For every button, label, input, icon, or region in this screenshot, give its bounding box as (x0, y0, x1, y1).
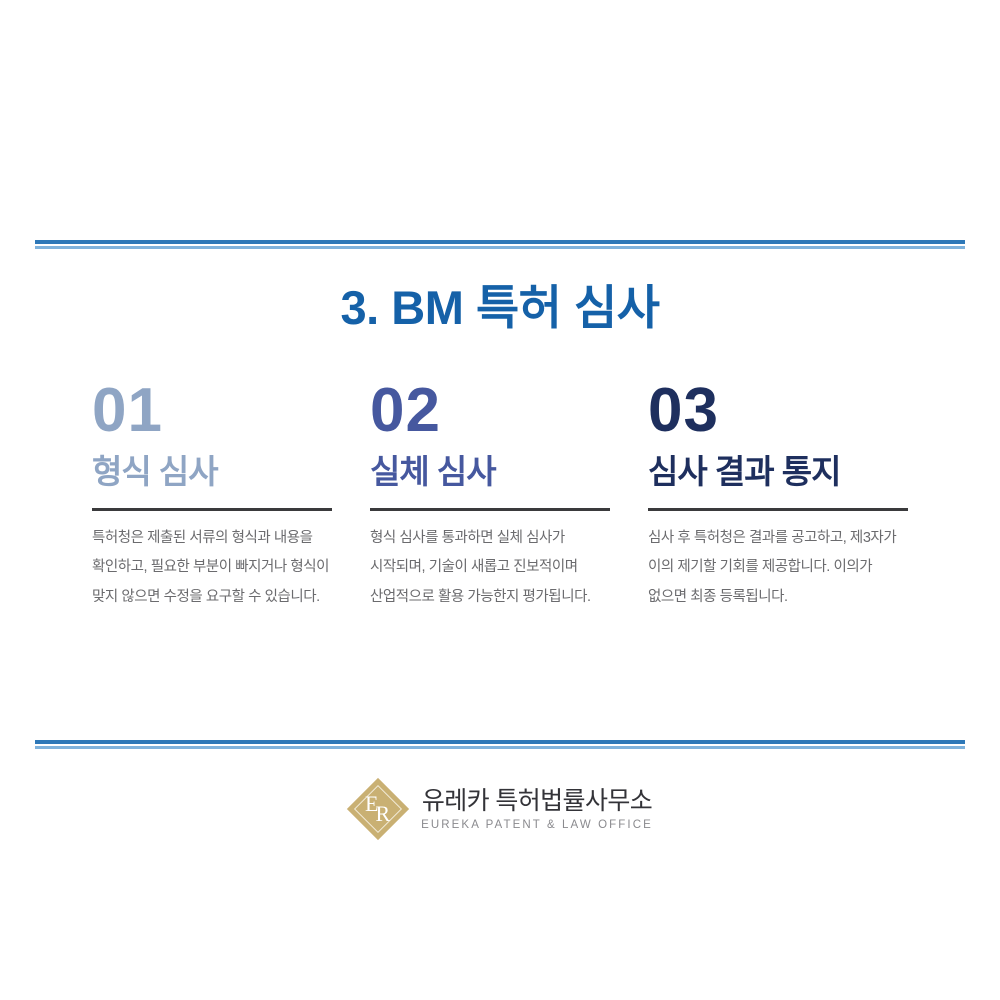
step-body-text: 형식 심사를 통과하면 실체 심사가 시작되며, 기술이 새롭고 진보적이며 산… (370, 524, 610, 612)
divider-top-thin-line (35, 246, 965, 249)
steps-container: 01 형식 심사 특허청은 제출된 서류의 형식과 내용을 확인하고, 필요한 … (92, 382, 908, 612)
diamond-logo-icon: ER (347, 778, 409, 840)
step-rule (370, 508, 610, 511)
page-title: 3. BM 특허 심사 (0, 281, 1000, 335)
step-body-text: 특허청은 제출된 서류의 형식과 내용을 확인하고, 필요한 부분이 빠지거나 … (92, 524, 332, 612)
step-number: 02 (370, 382, 610, 454)
monogram-letter-r: R (375, 803, 390, 825)
divider-bottom (35, 740, 965, 751)
divider-bottom-thin-line (35, 746, 965, 749)
footer-logo: ER 유레카 특허법률사무소 EUREKA PATENT & LAW OFFIC… (0, 778, 1000, 840)
logo-text-block: 유레카 특허법률사무소 EUREKA PATENT & LAW OFFICE (421, 787, 653, 832)
step-number: 01 (92, 382, 332, 454)
step-rule (92, 508, 332, 511)
step-column-3: 03 심사 결과 통지 심사 후 특허청은 결과를 공고하고, 제3자가 이의 … (648, 382, 908, 612)
step-number: 03 (648, 382, 908, 454)
monogram: ER (347, 778, 409, 840)
step-body-text: 심사 후 특허청은 결과를 공고하고, 제3자가 이의 제기할 기회를 제공합니… (648, 524, 908, 612)
slide-canvas: 3. BM 특허 심사 01 형식 심사 특허청은 제출된 서류의 형식과 내용… (0, 0, 1000, 1000)
company-name-english: EUREKA PATENT & LAW OFFICE (421, 819, 653, 831)
step-heading: 심사 결과 통지 (648, 454, 908, 498)
step-rule (648, 508, 908, 511)
step-heading: 실체 심사 (370, 454, 610, 498)
step-column-1: 01 형식 심사 특허청은 제출된 서류의 형식과 내용을 확인하고, 필요한 … (92, 382, 332, 612)
divider-top (35, 240, 965, 251)
step-heading: 형식 심사 (92, 454, 332, 498)
step-column-2: 02 실체 심사 형식 심사를 통과하면 실체 심사가 시작되며, 기술이 새롭… (370, 382, 610, 612)
company-name-korean: 유레카 특허법률사무소 (422, 787, 652, 816)
